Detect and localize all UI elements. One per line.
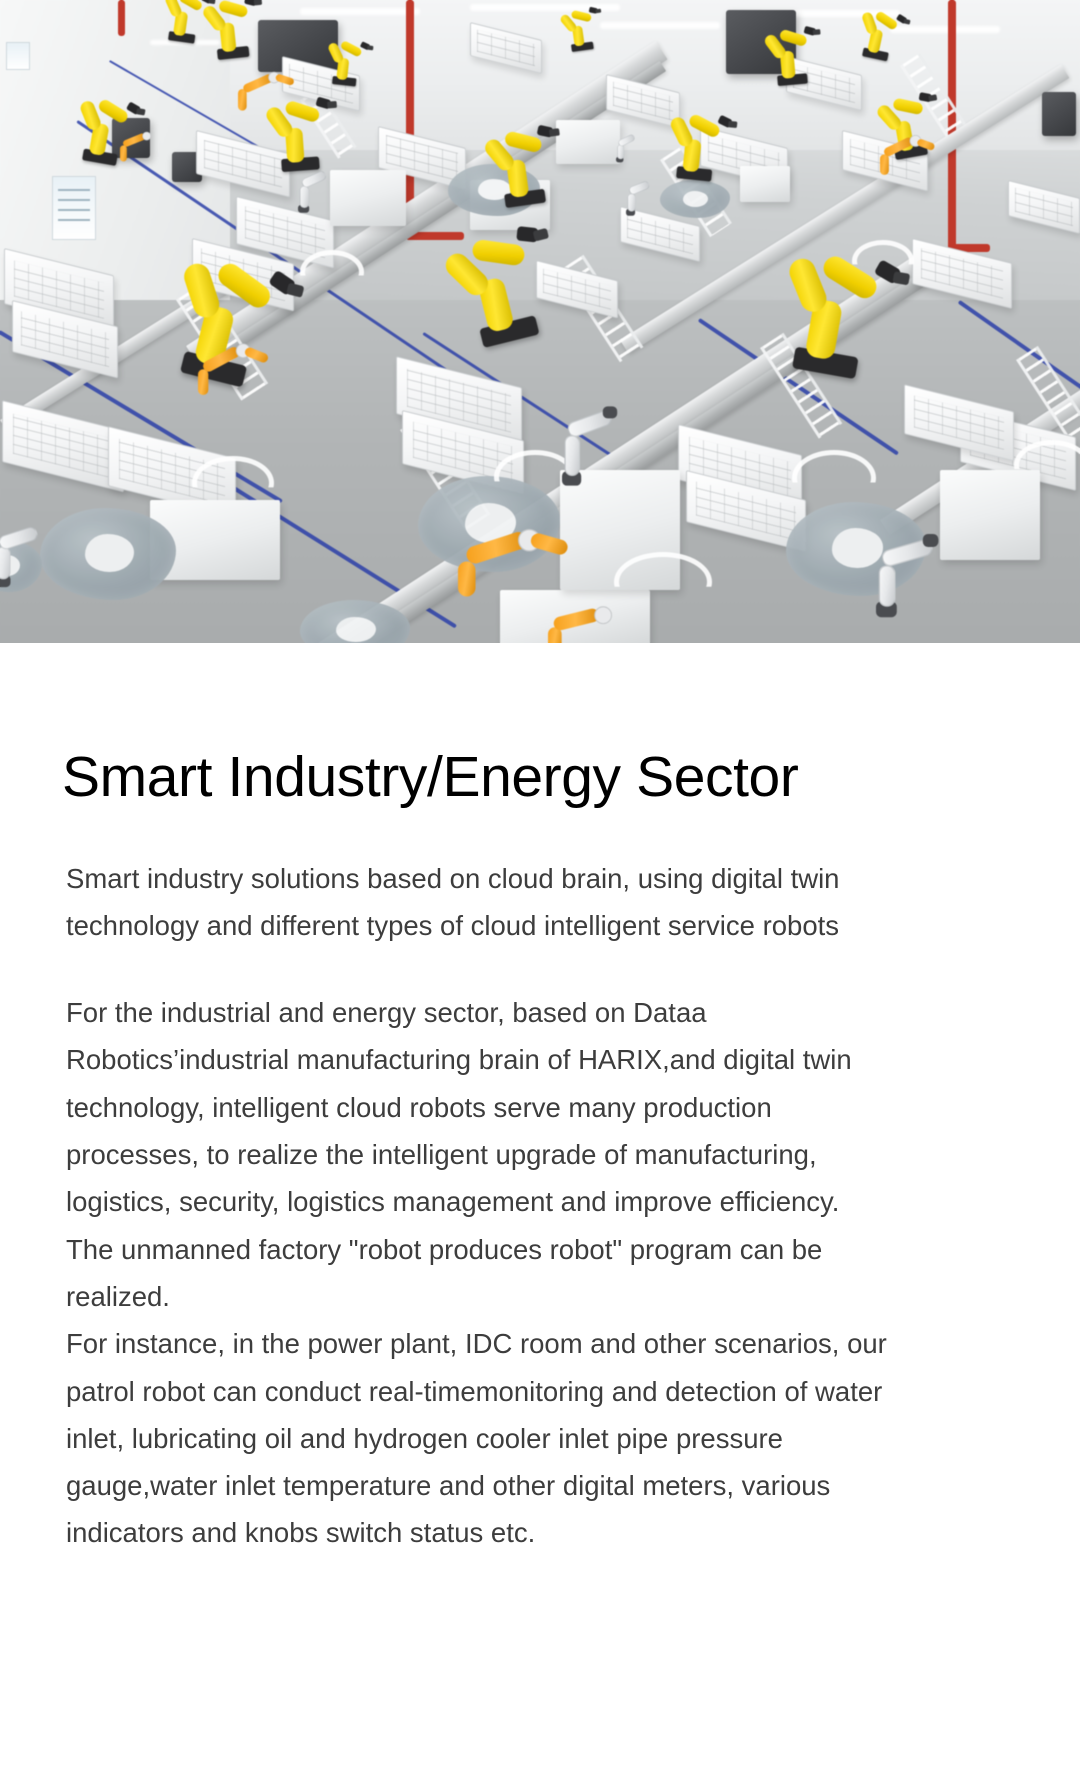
ceiling-light <box>600 22 720 29</box>
machine-pedestal <box>740 166 790 202</box>
wall-poster <box>6 42 30 70</box>
machine-pedestal <box>556 120 620 164</box>
workstation-crate <box>1008 180 1080 234</box>
machine-pedestal <box>330 170 406 226</box>
control-cabinet <box>1042 92 1076 136</box>
article-lead: Smart industry solutions based on cloud … <box>66 855 878 950</box>
floor-disc <box>660 180 730 218</box>
article-content: Smart Industry/Energy Sector Smart indus… <box>0 643 1080 1557</box>
machine-pedestal <box>940 470 1040 560</box>
article-body: For the industrial and energy sector, ba… <box>66 989 896 1557</box>
ceiling-light <box>890 26 1000 33</box>
hero-image <box>0 0 1080 643</box>
ceiling-light <box>300 8 420 15</box>
factory-scene <box>0 0 1080 643</box>
overhead-pipe <box>118 0 125 36</box>
floor-disc <box>40 508 176 600</box>
wall-poster <box>52 176 96 240</box>
article-paragraph: The unmanned factory "robot produces rob… <box>66 1226 896 1321</box>
page-title: Smart Industry/Energy Sector <box>62 643 1018 809</box>
article-paragraph: For instance, in the power plant, IDC ro… <box>66 1320 896 1556</box>
article-paragraph: For the industrial and energy sector, ba… <box>66 989 896 1225</box>
